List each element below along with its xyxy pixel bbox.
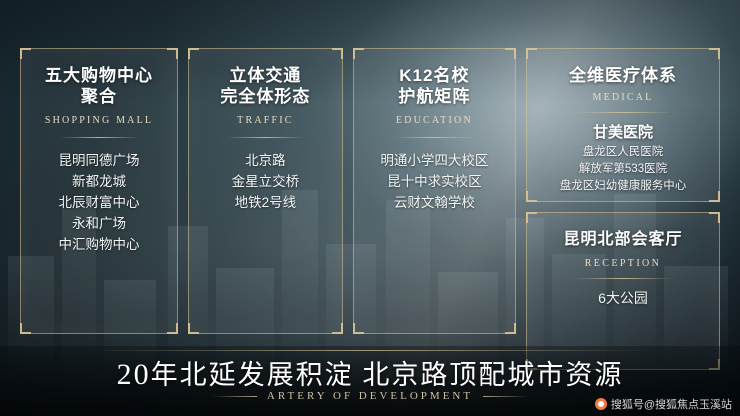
list-item: 新都龙城 — [29, 171, 169, 192]
banner-top-rule — [90, 350, 650, 351]
watermark-text: 搜狐号@搜狐焦点玉溪站 — [611, 396, 732, 412]
corner-ornament-icon — [526, 191, 537, 202]
card-title: 立体交通 完全体形态 — [197, 65, 334, 107]
list-item: 地铁2号线 — [197, 192, 334, 213]
corner-ornament-icon — [505, 48, 516, 59]
card-divider — [574, 278, 673, 279]
card-title-line1: 立体交通 — [229, 66, 301, 85]
card-item-list: 盘龙区人民医院 解放军第533医院 盘龙区妇幼健康服务中心 — [535, 144, 711, 195]
card-title-line1: K12名校 — [399, 66, 469, 85]
banner-number: 20 — [117, 358, 151, 391]
corner-ornament-icon — [505, 323, 516, 334]
corner-ornament-icon — [709, 191, 720, 202]
card-title: 全维医疗体系 — [535, 65, 711, 86]
corner-ornament-icon — [20, 323, 31, 334]
corner-ornament-icon — [709, 212, 720, 223]
list-item: 盘龙区人民医院 — [535, 144, 711, 161]
corner-ornament-icon — [353, 48, 364, 59]
list-item: 云财文翰学校 — [362, 192, 507, 213]
card-highlight-item: 甘美医院 — [535, 121, 711, 142]
list-item: 6大公园 — [535, 288, 711, 308]
corner-ornament-icon — [332, 48, 343, 59]
card-divider — [227, 137, 304, 138]
card-title-line2: 完全体形态 — [220, 87, 310, 106]
card-title: 五大购物中心 聚合 — [29, 65, 169, 107]
banner-subtitle-text: ARTERY OF DEVELOPMENT — [267, 390, 473, 402]
card-title-line2: 护航矩阵 — [398, 87, 470, 106]
list-item: 昆十中求实校区 — [362, 171, 507, 192]
corner-ornament-icon — [188, 323, 199, 334]
corner-ornament-icon — [709, 48, 720, 59]
corner-ornament-icon — [167, 323, 178, 334]
corner-ornament-icon — [353, 323, 364, 334]
card-subtitle-en: MEDICAL — [535, 92, 711, 103]
list-item: 盘龙区妇幼健康服务中心 — [535, 178, 711, 195]
list-item: 中汇购物中心 — [29, 234, 169, 255]
corner-ornament-icon — [188, 48, 199, 59]
card-title-line1: 五大购物中心 — [45, 66, 153, 85]
card-subtitle-en: EDUCATION — [362, 115, 507, 126]
card-shopping-mall: 五大购物中心 聚合 SHOPPING MALL 昆明同德广场 新都龙城 北辰财富… — [20, 48, 178, 334]
card-divider — [394, 137, 475, 138]
corner-ornament-icon — [526, 48, 537, 59]
list-item: 北京路 — [197, 150, 334, 171]
sohu-logo-icon — [595, 398, 607, 410]
card-divider — [60, 137, 138, 138]
card-column-right: 全维医疗体系 MEDICAL 甘美医院 盘龙区人民医院 解放军第533医院 盘龙… — [526, 48, 720, 370]
card-education: K12名校 护航矩阵 EDUCATION 明通小学四大校区 昆十中求实校区 云财… — [353, 48, 516, 334]
poster-root: 五大购物中心 聚合 SHOPPING MALL 昆明同德广场 新都龙城 北辰财富… — [0, 0, 740, 416]
list-item: 解放军第533医院 — [535, 161, 711, 178]
banner-headline-text: 年北延发展积淀 北京路顶配城市资源 — [151, 360, 624, 390]
list-item: 金星立交桥 — [197, 171, 334, 192]
corner-ornament-icon — [526, 212, 537, 223]
corner-ornament-icon — [167, 48, 178, 59]
card-medical: 全维医疗体系 MEDICAL 甘美医院 盘龙区人民医院 解放军第533医院 盘龙… — [526, 48, 720, 202]
card-divider — [574, 112, 673, 113]
list-item: 永和广场 — [29, 213, 169, 234]
list-item: 明通小学四大校区 — [362, 150, 507, 171]
card-subtitle-en: TRAFFIC — [197, 115, 334, 126]
corner-ornament-icon — [332, 323, 343, 334]
card-subtitle-en: SHOPPING MALL — [29, 115, 169, 126]
feature-card-list: 五大购物中心 聚合 SHOPPING MALL 昆明同德广场 新都龙城 北辰财富… — [20, 48, 720, 370]
list-item: 北辰财富中心 — [29, 192, 169, 213]
card-item-list: 昆明同德广场 新都龙城 北辰财富中心 永和广场 中汇购物中心 — [29, 150, 169, 255]
card-subtitle-en: RECEPTION — [535, 258, 711, 269]
card-title-line2: 聚合 — [81, 87, 117, 106]
card-title: 昆明北部会客厅 — [535, 229, 711, 250]
corner-ornament-icon — [20, 48, 31, 59]
card-item-list: 6大公园 — [535, 288, 711, 308]
list-item: 昆明同德广场 — [29, 150, 169, 171]
card-item-list: 北京路 金星立交桥 地铁2号线 — [197, 150, 334, 213]
card-title: K12名校 护航矩阵 — [362, 65, 507, 107]
card-item-list: 明通小学四大校区 昆十中求实校区 云财文翰学校 — [362, 150, 507, 213]
banner-headline: 20年北延发展积淀 北京路顶配城市资源 — [0, 353, 740, 392]
watermark: 搜狐号@搜狐焦点玉溪站 — [595, 396, 732, 412]
card-traffic: 立体交通 完全体形态 TRAFFIC 北京路 金星立交桥 地铁2号线 — [188, 48, 343, 334]
